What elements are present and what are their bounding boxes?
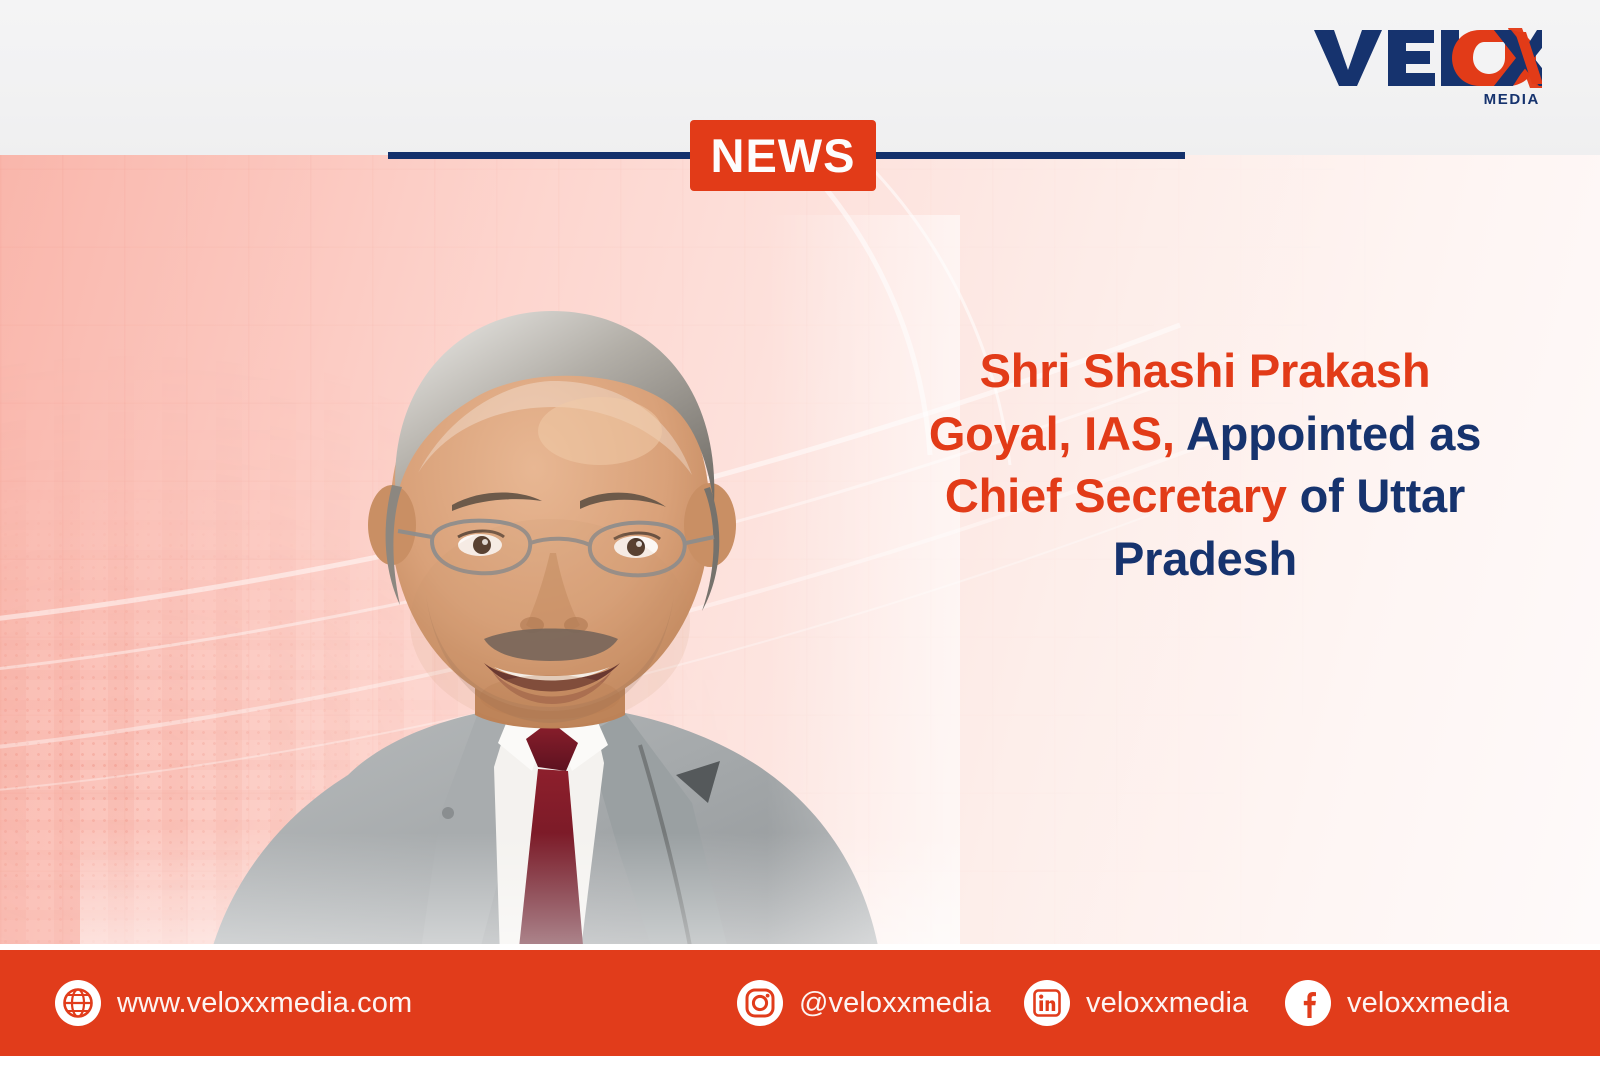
- footer-item-instagram[interactable]: @veloxxmedia: [737, 980, 991, 1026]
- facebook-icon: [1285, 980, 1331, 1026]
- headline: Shri Shashi Prakash Goyal, IAS, Appointe…: [905, 340, 1505, 590]
- linkedin-icon: [1024, 980, 1070, 1026]
- footer-item-linkedin[interactable]: veloxxmedia: [1024, 980, 1248, 1026]
- portrait-photo: [80, 215, 960, 950]
- footer-bar: www.veloxxmedia.com @veloxxmedia: [0, 950, 1600, 1056]
- footer-label-instagram: @veloxxmedia: [799, 987, 991, 1020]
- main-stage: Shri Shashi Prakash Goyal, IAS, Appointe…: [0, 155, 1600, 950]
- globe-icon: [55, 980, 101, 1026]
- veloxx-media-logo: MEDIA: [1312, 24, 1542, 110]
- logo-subtext: MEDIA: [1484, 91, 1540, 108]
- footer-bottom-white-strip: [0, 1056, 1600, 1066]
- footer-label-website: www.veloxxmedia.com: [117, 987, 412, 1020]
- footer-label-linkedin: veloxxmedia: [1086, 987, 1248, 1020]
- headline-segment-role: Chief Secretary: [945, 469, 1287, 522]
- news-badge: NEWS: [690, 120, 876, 191]
- footer-item-facebook[interactable]: veloxxmedia: [1285, 980, 1509, 1026]
- footer-label-facebook: veloxxmedia: [1347, 987, 1509, 1020]
- instagram-icon: [737, 980, 783, 1026]
- news-badge-label: NEWS: [711, 132, 856, 179]
- headline-segment-appointed: Appointed as: [1175, 407, 1481, 460]
- footer-item-website[interactable]: www.veloxxmedia.com: [55, 980, 412, 1026]
- news-graphic-card: MEDIA NEWS: [0, 0, 1600, 1066]
